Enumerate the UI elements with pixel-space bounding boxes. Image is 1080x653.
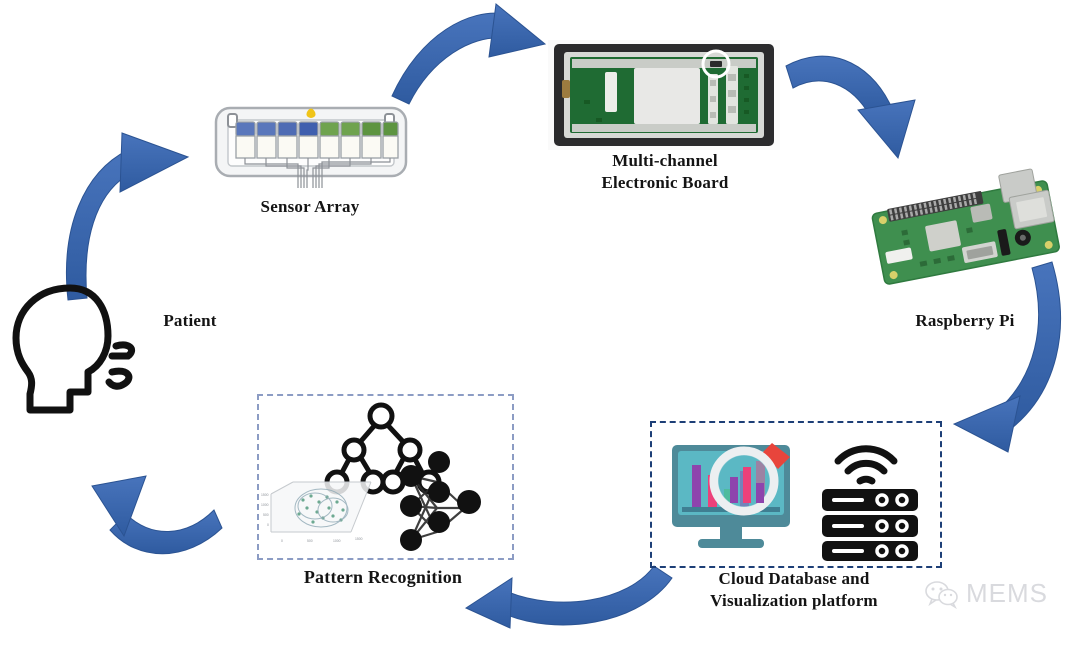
node-cloud-platform[interactable] (650, 421, 942, 568)
cloud-platform-label: Cloud Database and Visualization platfor… (648, 568, 940, 612)
watermark: MEMS (925, 578, 1048, 609)
svg-text:1000: 1000 (261, 503, 269, 507)
node-pattern-recognition[interactable]: 15001000 5000 0500 10001500 (257, 394, 514, 560)
svg-text:1500: 1500 (355, 537, 363, 541)
wifi-icon (838, 449, 894, 481)
neural-network-icon (400, 451, 481, 551)
diagram-canvas: Patient (0, 0, 1080, 653)
node-electronic-board[interactable] (548, 40, 780, 150)
raspberry-pi-label: Raspberry Pi (862, 310, 1068, 332)
raspberry-pi-board-icon (862, 160, 1074, 296)
sensor-array-label: Sensor Array (210, 196, 410, 218)
patient-head-icon (8, 280, 178, 420)
scatter-plot-3d-icon: 15001000 5000 0500 10001500 (261, 482, 371, 543)
patient-label: Patient (120, 310, 260, 332)
pattern-recognition-label: Pattern Recognition (247, 566, 519, 589)
pattern-recognition-icon: 15001000 5000 0500 10001500 (259, 396, 508, 554)
node-sensor-array[interactable] (212, 102, 410, 194)
arrow-board-to-pi (786, 56, 915, 158)
svg-text:1500: 1500 (261, 493, 269, 497)
watermark-text: MEMS (966, 578, 1048, 609)
electronic-board-label: Multi-channel Electronic Board (540, 150, 790, 194)
arrow-patient-to-sensor (66, 133, 188, 300)
node-patient[interactable] (8, 280, 178, 420)
sensor-array-icon (212, 102, 410, 194)
pcb-enclosure-icon (548, 40, 780, 150)
svg-text:500: 500 (307, 539, 313, 543)
svg-text:1000: 1000 (333, 539, 341, 543)
cloud-database-icon (652, 423, 936, 562)
svg-text:0: 0 (281, 539, 283, 543)
svg-text:0: 0 (267, 523, 269, 527)
wechat-icon (925, 580, 959, 608)
arrow-pattern-to-patient (92, 476, 222, 554)
node-raspberry-pi[interactable] (862, 160, 1074, 296)
svg-text:500: 500 (263, 513, 269, 517)
arrow-sensor-to-board (392, 4, 545, 104)
server-rack-icon (822, 489, 918, 561)
